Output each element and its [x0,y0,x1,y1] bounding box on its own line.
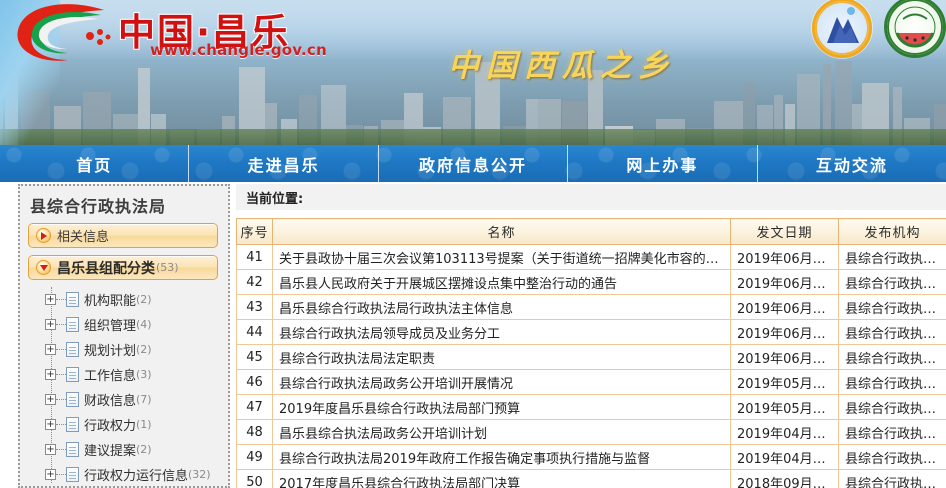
breadcrumb: 当前位置: [236,184,946,210]
row-document-link[interactable]: 昌乐县综合行政执法局行政执法主体信息 [273,295,731,320]
row-publish-org: 县综合行政执法局 [839,245,946,270]
sidebar-item-count: (7) [136,393,152,406]
sidebar-item-admin-power[interactable]: + 行政权力 (1) [20,412,228,437]
table-header-row: 序号 名称 发文日期 发布机构 [237,219,946,245]
row-publish-org: 县综合行政执法局 [839,470,946,488]
expand-plus-icon[interactable]: + [45,294,56,305]
row-document-link[interactable]: 县综合行政执法局2019年政府工作报告确定事项执行措施与监督 [273,445,731,470]
row-publish-date: 2018年09月30日 [731,470,839,488]
sidebar-item-label: 财政信息 [84,390,136,409]
row-document-link[interactable]: 县综合行政执法局领导成员及业务分工 [273,320,731,345]
row-publish-date: 2019年06月03日 [731,320,839,345]
row-index: 46 [237,370,273,395]
row-document-link[interactable]: 昌乐县人民政府关于开展城区摆摊设点集中整治行动的通告 [273,270,731,295]
sidebar-title: 县综合行政执法局 [30,193,228,217]
sidebar-item-count: (1) [136,418,152,431]
nav-item-gov-info[interactable]: 政府信息公开 [379,145,568,182]
row-index: 43 [237,295,273,320]
sidebar-button-related-info[interactable]: 相关信息 [28,223,218,248]
tree-connector [56,324,66,325]
row-publish-org: 县综合行政执法局 [839,370,946,395]
row-publish-org: 县综合行政执法局 [839,345,946,370]
expand-plus-icon[interactable]: + [45,419,56,430]
page-root: 中国·昌乐 www.changle.gov.cn 中国西瓜之乡 [0,0,946,488]
sidebar-tree: + 机构职能 (2) + 组织管理 (4) + 规划计划 [20,287,228,487]
col-header-index[interactable]: 序号 [237,219,273,245]
document-icon [66,442,79,457]
document-icon [66,467,79,482]
table-row[interactable]: 46县综合行政执法局政务公开培训开展情况2019年05月17日县综合行政执法局 [237,370,946,395]
swoosh-logo-icon[interactable] [8,2,120,72]
sidebar-item-count: (2) [136,343,152,356]
document-icon [66,367,79,382]
nav-item-online-svc[interactable]: 网上办事 [568,145,757,182]
row-publish-org: 县综合行政执法局 [839,445,946,470]
row-index: 50 [237,470,273,488]
sidebar-item-count: (2) [136,293,152,306]
document-icon [66,342,79,357]
row-publish-date: 2019年06月03日 [731,345,839,370]
sidebar-item-label: 建议提案 [84,440,136,459]
table-body: 41关于县政协十届三次会议第103113号提案（关于街道统一招牌美化市容的建议）… [237,245,946,488]
sidebar-item-proposals[interactable]: + 建议提案 (2) [20,437,228,462]
sidebar-item-label: 工作信息 [84,365,136,384]
row-document-link[interactable]: 2017年度昌乐县综合行政执法局部门决算 [273,470,731,488]
row-publish-date: 2019年05月07日 [731,395,839,420]
document-icon [66,317,79,332]
table-row[interactable]: 44县综合行政执法局领导成员及业务分工2019年06月03日县综合行政执法局 [237,320,946,345]
table-row[interactable]: 41关于县政协十届三次会议第103113号提案（关于街道统一招牌美化市容的建议）… [237,245,946,270]
row-index: 49 [237,445,273,470]
table-row[interactable]: 48昌乐县综合执法局政务公开培训计划2019年04月26日县综合行政执法局 [237,420,946,445]
tree-connector [56,474,66,475]
row-index: 41 [237,245,273,270]
table-row[interactable]: 472019年度昌乐县综合行政执法局部门预算2019年05月07日县综合行政执法… [237,395,946,420]
document-icon [66,392,79,407]
row-publish-date: 2019年06月10日 [731,245,839,270]
row-index: 48 [237,420,273,445]
col-header-date[interactable]: 发文日期 [731,219,839,245]
row-index: 42 [237,270,273,295]
expand-plus-icon[interactable]: + [45,369,56,380]
sidebar-item-label: 组织管理 [84,315,136,334]
sidebar-item-admin-power-operation[interactable]: + 行政权力运行信息 (32) [20,462,228,487]
tree-connector [56,374,66,375]
row-publish-date: 2019年05月17日 [731,370,839,395]
sidebar-item-label: 规划计划 [84,340,136,359]
row-document-link[interactable]: 县综合行政执法局法定职责 [273,345,731,370]
main-navigation: 首页 走进昌乐 政府信息公开 网上办事 互动交流 [0,145,946,182]
sidebar-item-planning[interactable]: + 规划计划 (2) [20,337,228,362]
row-publish-date: 2019年06月03日 [731,295,839,320]
col-header-org[interactable]: 发布机构 [839,219,946,245]
sidebar-button-count: (53) [156,261,179,274]
row-publish-org: 县综合行政执法局 [839,395,946,420]
site-url[interactable]: www.changle.gov.cn [150,41,327,59]
sidebar-button-label: 相关信息 [57,226,109,245]
nav-item-interaction[interactable]: 互动交流 [758,145,946,182]
sidebar-item-label: 行政权力运行信息 [84,465,188,484]
expand-plus-icon[interactable]: + [45,444,56,455]
sidebar-item-work-info[interactable]: + 工作信息 (3) [20,362,228,387]
table-row[interactable]: 49县综合行政执法局2019年政府工作报告确定事项执行措施与监督2019年04月… [237,445,946,470]
document-icon [66,417,79,432]
tree-connector [56,399,66,400]
tree-connector [56,349,66,350]
sidebar-item-count: (3) [136,368,152,381]
expand-plus-icon[interactable]: + [45,394,56,405]
body-area: 县综合行政执法局 相关信息 昌乐县组配分类 (53) + 机构职能 (2) [0,182,946,488]
row-index: 47 [237,395,273,420]
row-publish-date: 2019年06月10日 [731,270,839,295]
sidebar-item-count: (32) [188,468,211,481]
sidebar-item-count: (4) [136,318,152,331]
table-row[interactable]: 43昌乐县综合行政执法局行政执法主体信息2019年06月03日县综合行政执法局 [237,295,946,320]
document-list-table: 序号 名称 发文日期 发布机构 41关于县政协十届三次会议第103113号提案（… [236,218,946,488]
sidebar-button-label: 昌乐县组配分类 [57,258,155,278]
col-header-name[interactable]: 名称 [273,219,731,245]
row-publish-date: 2019年04月08日 [731,445,839,470]
row-publish-date: 2019年04月26日 [731,420,839,445]
tree-connector [56,424,66,425]
arrow-down-circle-icon [36,260,51,275]
nav-item-about[interactable]: 走进昌乐 [189,145,378,182]
content-panel: 当前位置: 序号 名称 发文日期 发布机构 41关于县政协十届三次会议第1031… [236,184,946,488]
sidebar-panel: 县综合行政执法局 相关信息 昌乐县组配分类 (53) + 机构职能 (2) [18,184,230,488]
sidebar-item-label: 行政权力 [84,415,136,434]
banner-slogan: 中国西瓜之乡 [448,40,676,85]
site-banner: 中国·昌乐 www.changle.gov.cn 中国西瓜之乡 [0,0,946,145]
play-circle-icon [36,228,51,243]
tree-connector [56,449,66,450]
sidebar-item-org-management[interactable]: + 组织管理 (4) [20,312,228,337]
row-document-link[interactable]: 昌乐县综合执法局政务公开培训计划 [273,420,731,445]
row-publish-org: 县综合行政执法局 [839,420,946,445]
row-index: 45 [237,345,273,370]
sidebar-item-finance-info[interactable]: + 财政信息 (7) [20,387,228,412]
expand-plus-icon[interactable]: + [45,344,56,355]
row-index: 44 [237,320,273,345]
row-document-link[interactable]: 县综合行政执法局政务公开培训开展情况 [273,370,731,395]
table-row[interactable]: 42昌乐县人民政府关于开展城区摆摊设点集中整治行动的通告2019年06月10日县… [237,270,946,295]
tree-connector [56,299,66,300]
sidebar-item-label: 机构职能 [84,290,136,309]
sidebar-item-count: (2) [136,443,152,456]
treeline-strip [0,129,946,145]
row-publish-org: 县综合行政执法局 [839,320,946,345]
row-publish-org: 县综合行政执法局 [839,295,946,320]
document-icon [66,292,79,307]
expand-plus-icon[interactable]: + [45,469,56,480]
table-row[interactable]: 45县综合行政执法局法定职责2019年06月03日县综合行政执法局 [237,345,946,370]
table-row[interactable]: 502017年度昌乐县综合行政执法局部门决算2018年09月30日县综合行政执法… [237,470,946,488]
row-document-link[interactable]: 关于县政协十届三次会议第103113号提案（关于街道统一招牌美化市容的建议）..… [273,245,731,270]
row-publish-org: 县综合行政执法局 [839,270,946,295]
sidebar-item-org-function[interactable]: + 机构职能 (2) [20,287,228,312]
row-document-link[interactable]: 2019年度昌乐县综合行政执法局部门预算 [273,395,731,420]
blue-mountain-emblem-icon [812,0,872,58]
breadcrumb-label: 当前位置: [246,188,303,207]
sidebar-button-category-group[interactable]: 昌乐县组配分类 (53) [28,255,218,280]
nav-item-home[interactable]: 首页 [0,145,189,182]
expand-plus-icon[interactable]: + [45,319,56,330]
